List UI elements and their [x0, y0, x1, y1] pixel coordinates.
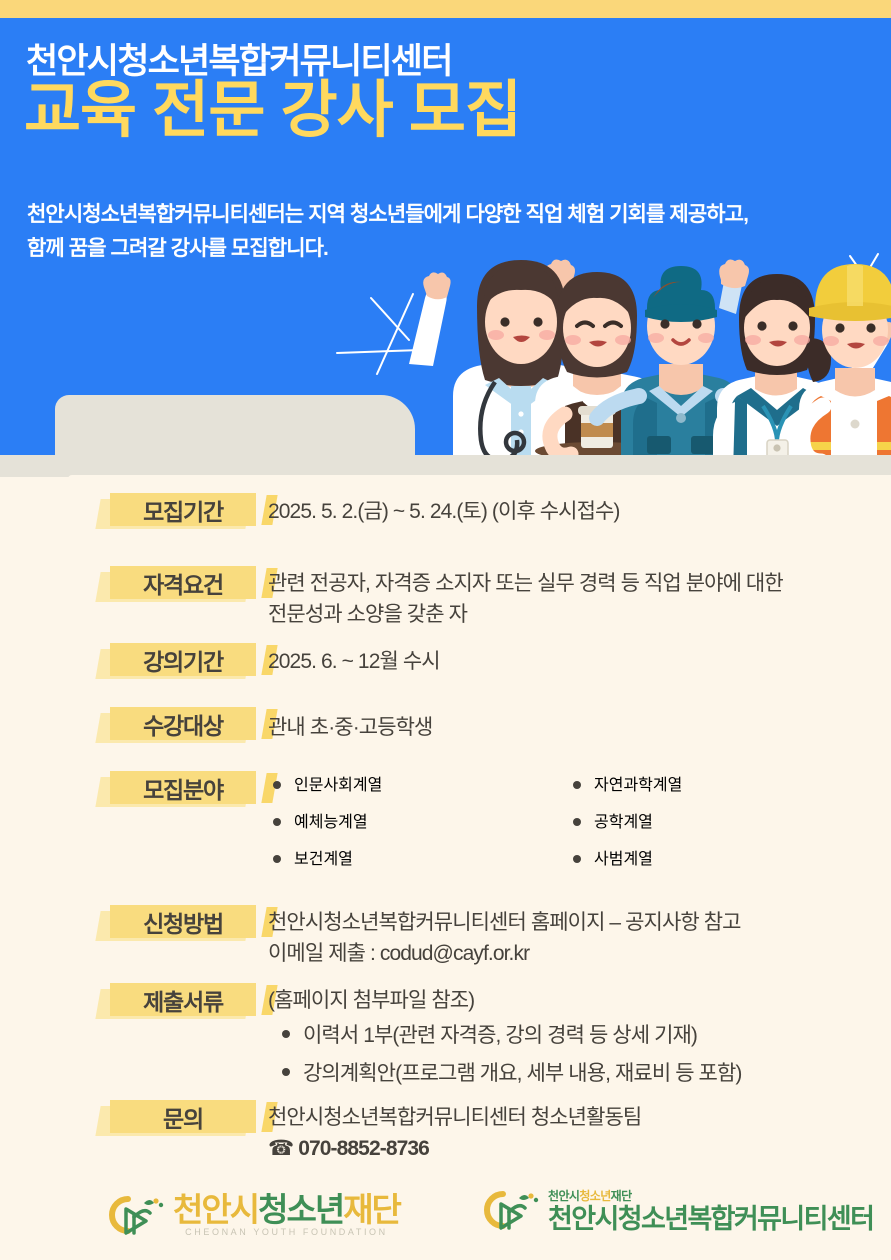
value-recruitment-period: 2025. 5. 2.(금) ~ 5. 24.(토) (이후 수시접수) — [268, 496, 888, 527]
list-item: 예체능계열 — [273, 808, 573, 832]
documents-list: 이력서 1부(관련 자격증, 강의 경력 등 상세 기재) 강의계획안(프로그램… — [268, 1020, 888, 1089]
label-text: 모집분야 — [110, 771, 256, 804]
foundation-name-part1: 천안시 — [173, 1191, 258, 1228]
bullet-icon — [573, 855, 581, 863]
value-line: 천안시청소년복합커뮤니티센터 청소년활동팀 — [268, 1102, 888, 1133]
poster-root: 천안시청소년복합커뮤니티센터 교육 전문 강사 모집 천안시청소년복합커뮤니티센… — [0, 0, 891, 1260]
label-qualification: 자격요건 — [104, 566, 256, 604]
label-fields: 모집분야 — [104, 771, 256, 809]
email-line: 이메일 제출 : codud@cayf.or.kr — [268, 938, 888, 969]
field-label: 인문사회계열 — [294, 771, 382, 795]
cc-foundation-part3: 재단 — [611, 1189, 632, 1203]
fields-column-right: 자연과학계열 공학계열 사범계열 — [573, 771, 873, 882]
bullet-icon — [282, 1030, 290, 1038]
foundation-english-name: CHEONAN YOUTH FOUNDATION — [173, 1227, 400, 1237]
logo-cheonan-youth-foundation: 천안시청소년재단 CHEONAN YOUTH FOUNDATION — [108, 1193, 400, 1237]
value-qualification: 관련 전공자, 자격증 소지자 또는 실무 경력 등 직업 분야에 대한 전문성… — [268, 568, 888, 630]
label-contact: 문의 — [104, 1100, 256, 1138]
label-application-method: 신청방법 — [104, 905, 256, 943]
label-text: 모집기간 — [110, 493, 256, 526]
fields-column-left: 인문사회계열 예체능계열 보건계열 — [273, 771, 573, 882]
value-documents: (홈페이지 첨부파일 참조) 이력서 1부(관련 자격증, 강의 경력 등 상세… — [268, 985, 888, 1096]
community-center-name: 천안시청소년복합커뮤니티센터 — [548, 1206, 873, 1233]
label-target-students: 수강대상 — [104, 707, 256, 745]
label-text: 제출서류 — [110, 983, 256, 1016]
cc-foundation-part2: 청소년 — [579, 1189, 610, 1203]
foundation-name-part2: 청소년 — [258, 1191, 343, 1228]
document-label: 강의계획안(프로그램 개요, 세부 내용, 재료비 등 포함) — [303, 1058, 741, 1089]
header-section: 천안시청소년복합커뮤니티센터 교육 전문 강사 모집 천안시청소년복합커뮤니티센… — [0, 18, 891, 455]
label-text: 강의기간 — [110, 643, 256, 676]
document-label: 이력서 1부(관련 자격증, 강의 경력 등 상세 기재) — [303, 1020, 697, 1051]
value-line: 전문성과 소양을 갖춘 자 — [268, 599, 888, 630]
contact-phone: ☎ 070-8852-8736 — [268, 1133, 888, 1164]
label-recruitment-period: 모집기간 — [104, 493, 256, 531]
value-line: 관련 전공자, 자격증 소지자 또는 실무 경력 등 직업 분야에 대한 — [268, 568, 888, 599]
list-item: 이력서 1부(관련 자격증, 강의 경력 등 상세 기재) — [268, 1020, 888, 1051]
label-text: 자격요건 — [110, 566, 256, 599]
header-description-line-1: 천안시청소년복합커뮤니티센터는 지역 청소년들에게 다양한 직업 체험 기회를 … — [27, 203, 748, 226]
label-text: 수강대상 — [110, 707, 256, 740]
label-documents: 제출서류 — [104, 983, 256, 1021]
value-application-method: 천안시청소년복합커뮤니티센터 홈페이지 – 공지사항 참고 이메일 제출 : c… — [268, 907, 888, 969]
bullet-icon — [273, 781, 281, 789]
field-label: 사범계열 — [594, 845, 653, 869]
list-item: 인문사회계열 — [273, 771, 573, 795]
bullet-icon — [273, 818, 281, 826]
value-line: 관내 초·중·고등학생 — [268, 712, 888, 743]
list-item: 자연과학계열 — [573, 771, 873, 795]
page-title: 교육 전문 강사 모집 — [24, 78, 521, 143]
community-center-logo-mark-icon — [483, 1188, 539, 1232]
footer-logos: 천안시청소년재단 CHEONAN YOUTH FOUNDATION 천안시청소년… — [68, 1185, 891, 1255]
field-label: 자연과학계열 — [594, 771, 682, 795]
value-line: 천안시청소년복합커뮤니티센터 홈페이지 – 공지사항 참고 — [268, 907, 888, 938]
info-card: 모집기간 2025. 5. 2.(금) ~ 5. 24.(토) (이후 수시접수… — [68, 475, 891, 1260]
label-text: 신청방법 — [110, 905, 256, 938]
logo-cheonan-youth-community-center: 천안시청소년재단 천안시청소년복합커뮤니티센터 — [483, 1187, 873, 1233]
value-contact: 천안시청소년복합커뮤니티센터 청소년활동팀 ☎ 070-8852-8736 — [268, 1102, 888, 1164]
value-line: 2025. 5. 2.(금) ~ 5. 24.(토) (이후 수시접수) — [268, 496, 888, 527]
value-target-students: 관내 초·중·고등학생 — [268, 712, 888, 743]
fields-columns: 인문사회계열 예체능계열 보건계열 자연과학계열 — [273, 771, 891, 882]
field-label: 예체능계열 — [294, 808, 368, 832]
value-lecture-period: 2025. 6. ~ 12월 수시 — [268, 646, 888, 677]
field-label: 보건계열 — [294, 845, 353, 869]
top-accent-bar — [0, 0, 891, 18]
bullet-icon — [282, 1068, 290, 1076]
foundation-name-part3: 재단 — [343, 1191, 400, 1228]
list-item: 보건계열 — [273, 845, 573, 869]
foundation-logo-text: 천안시청소년재단 CHEONAN YOUTH FOUNDATION — [173, 1193, 400, 1237]
folder-tab-shape — [55, 395, 415, 457]
bullet-icon — [273, 855, 281, 863]
list-item: 공학계열 — [573, 808, 873, 832]
label-lecture-period: 강의기간 — [104, 643, 256, 681]
foundation-logo-mark-icon — [108, 1193, 164, 1237]
community-center-logo-text: 천안시청소년재단 천안시청소년복합커뮤니티센터 — [548, 1187, 873, 1233]
list-item: 사범계열 — [573, 845, 873, 869]
field-label: 공학계열 — [594, 808, 653, 832]
career-characters-illustration — [395, 246, 891, 455]
value-line: 2025. 6. ~ 12월 수시 — [268, 646, 888, 677]
folder-tab-band — [0, 455, 891, 477]
value-line: (홈페이지 첨부파일 참조) — [268, 985, 888, 1016]
bullet-icon — [573, 818, 581, 826]
list-item: 강의계획안(프로그램 개요, 세부 내용, 재료비 등 포함) — [268, 1058, 888, 1089]
label-text: 문의 — [110, 1100, 256, 1133]
header-description-line-2: 함께 꿈을 그려갈 강사를 모집합니다. — [27, 237, 328, 260]
bullet-icon — [573, 781, 581, 789]
cc-foundation-part1: 천안시 — [548, 1189, 579, 1203]
